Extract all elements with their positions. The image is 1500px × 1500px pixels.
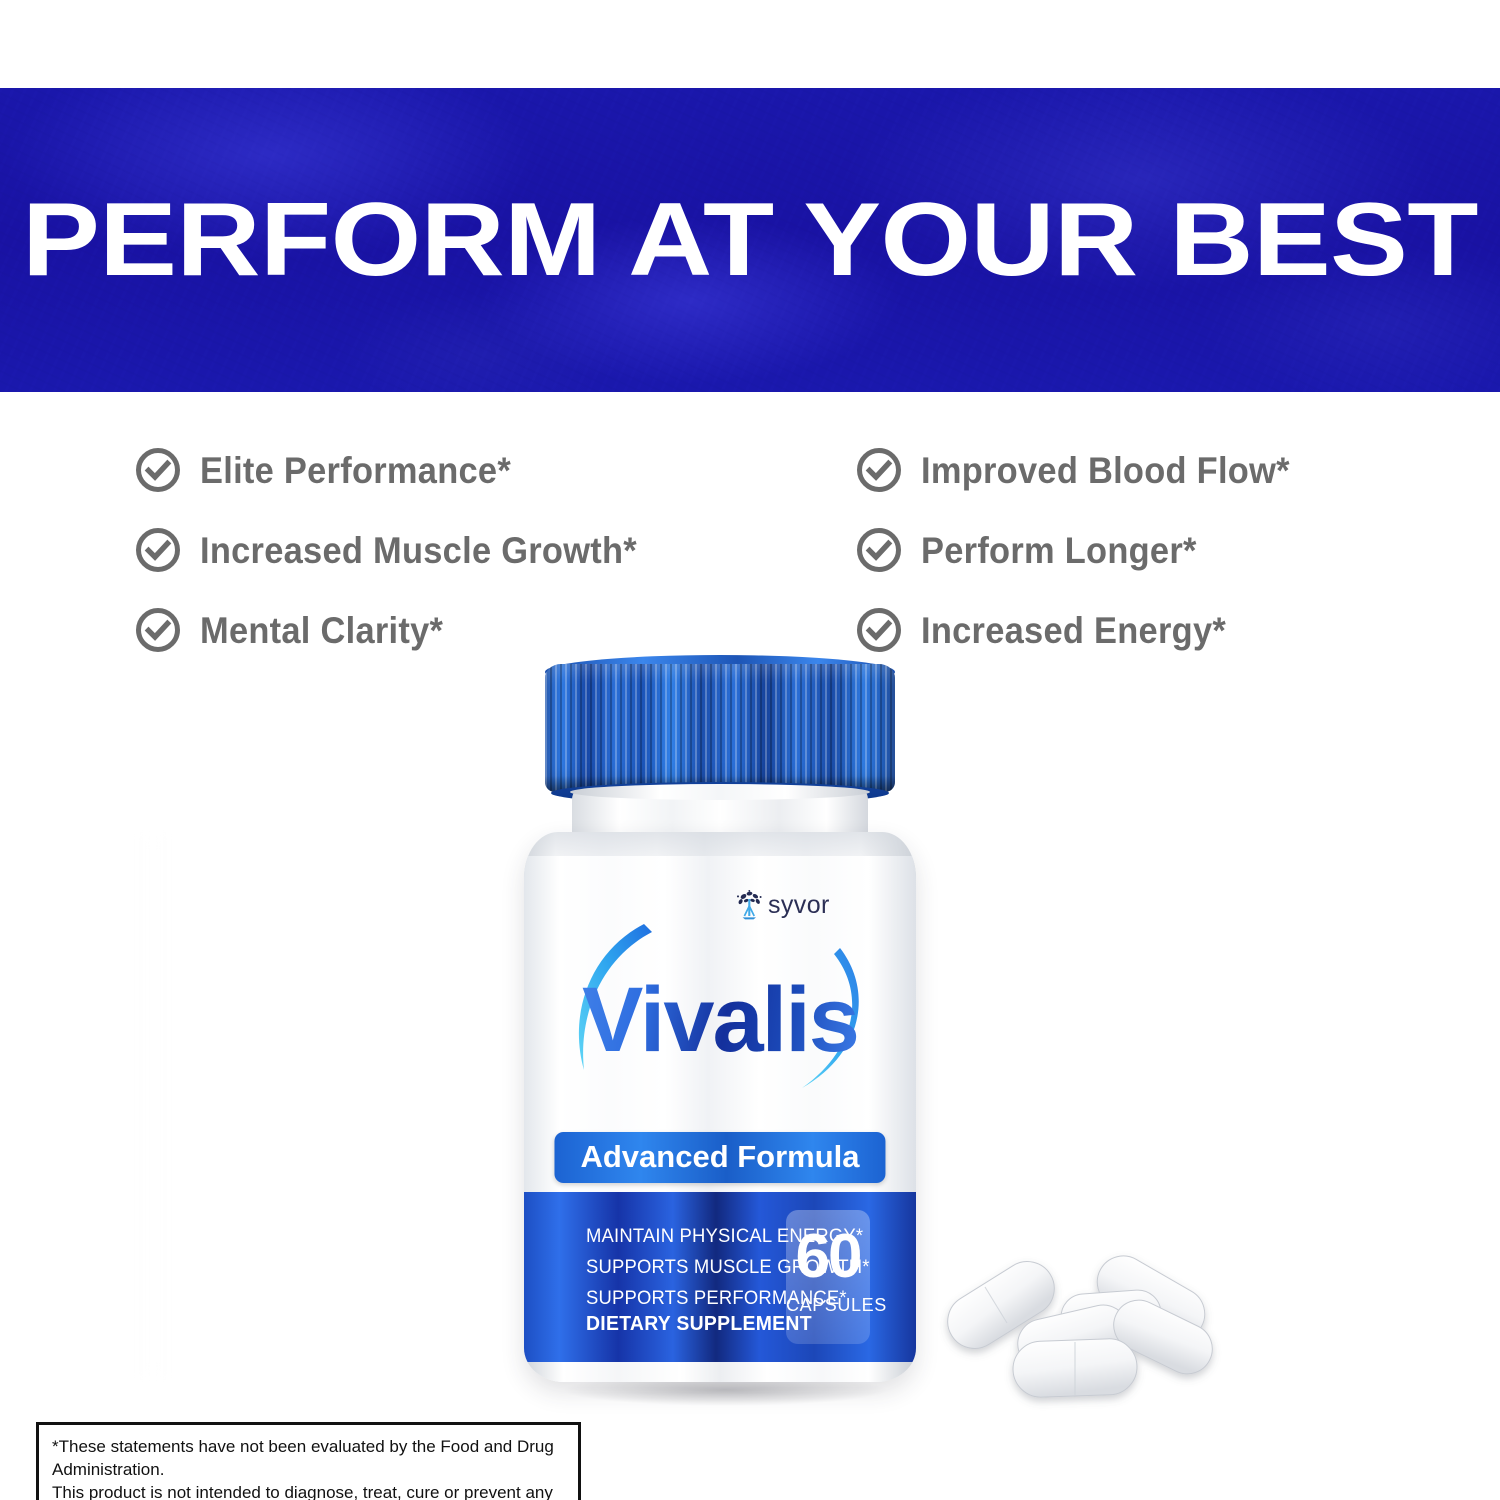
capsule-count-unit: CAPSULES	[786, 1296, 870, 1314]
tree-icon	[736, 890, 763, 920]
brand-logo: syvor	[736, 890, 830, 920]
disclaimer-line-1: *These statements have not been evaluate…	[52, 1436, 565, 1482]
bottle-label-band: MAINTAIN PHYSICAL ENERGY* SUPPORTS MUSCL…	[524, 1192, 916, 1362]
banner-title: PERFORM AT YOUR BEST	[0, 188, 1500, 292]
bottle-cap	[545, 664, 895, 792]
disclaimer-line-2: This product is not intended to diagnose…	[52, 1482, 565, 1500]
product-name: Vivalis	[582, 974, 858, 1066]
supplement-type: DIETARY SUPPLEMENT	[586, 1314, 812, 1334]
capsule-count-badge: 60 CAPSULES	[786, 1210, 870, 1344]
capsule-count-number: 60	[786, 1226, 870, 1288]
bottle-body: syvor	[524, 832, 916, 1382]
product-marketing-image: PERFORM AT YOUR BEST Elite Performance* …	[0, 0, 1500, 1500]
bottle-highlight	[126, 836, 180, 1376]
fda-disclaimer: *These statements have not been evaluate…	[36, 1422, 581, 1500]
product-logo-mark: Vivalis	[524, 918, 916, 1118]
bottle-label-upper: syvor	[524, 856, 916, 1192]
bottle-base	[524, 1362, 916, 1382]
capsules-pile	[925, 1230, 1225, 1430]
advanced-formula-badge: Advanced Formula	[554, 1132, 885, 1183]
brand-name: syvor	[768, 893, 830, 918]
